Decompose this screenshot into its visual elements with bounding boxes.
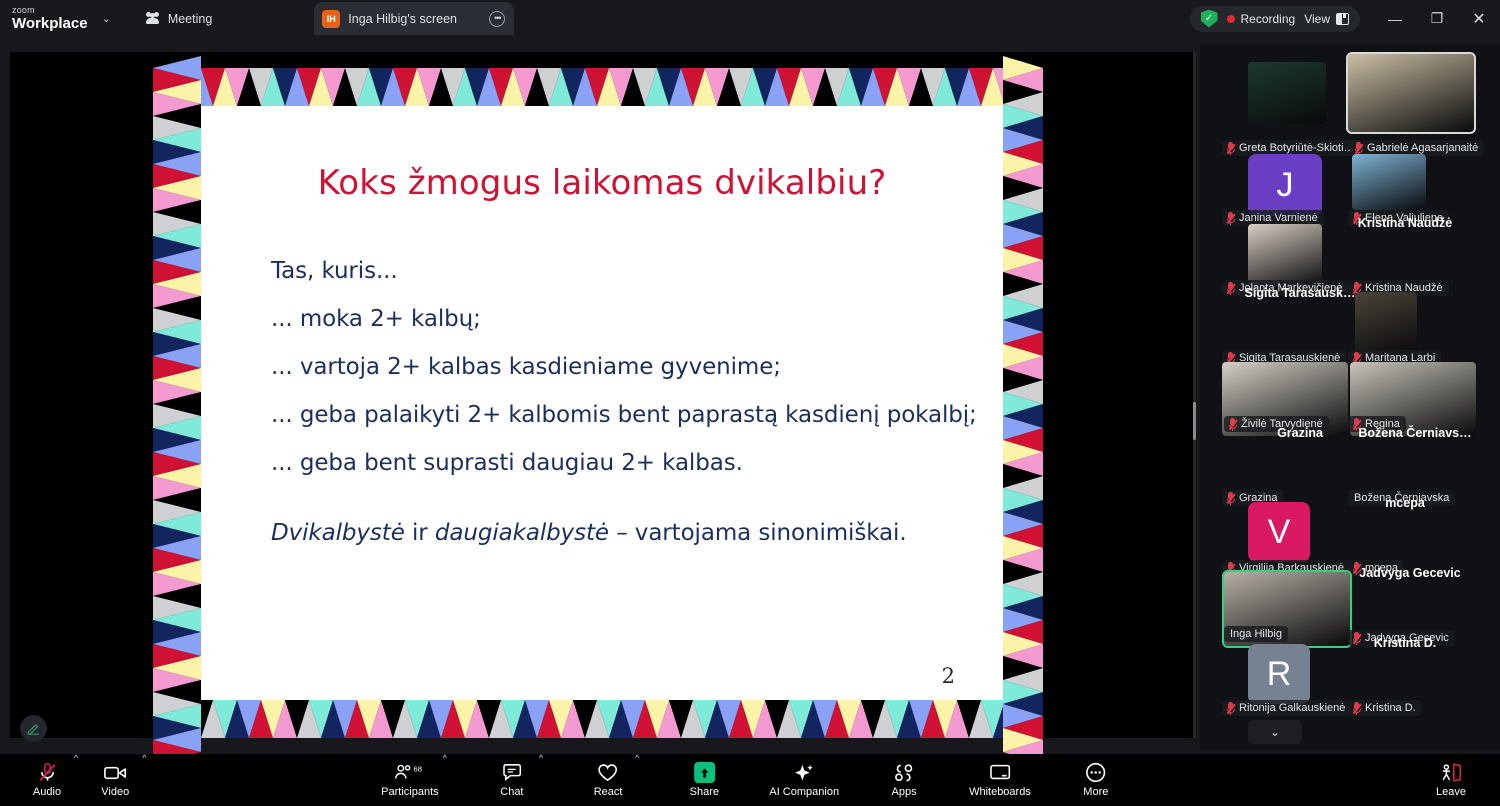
audio-label: Audio (33, 786, 61, 798)
ellipsis-circle-icon (1085, 763, 1106, 783)
participant-tile[interactable]: Kristina D.Kristina D. (1200, 44, 1500, 750)
presentation-slide: Koks žmogus laikomas dvikalbiu? Tas, kur… (153, 68, 1043, 738)
share-screen-icon (694, 763, 715, 783)
leave-button[interactable]: Leave (1428, 763, 1474, 798)
react-label: React (594, 786, 623, 798)
meeting-toolbar: Audio ^ Video ^ (0, 754, 1500, 806)
slide-spacer (271, 498, 963, 520)
chat-control-group: Chat ^ (489, 763, 543, 798)
title-bar: zoom Workplace ⌄ Meeting IH Inga Hilbig'… (0, 0, 1500, 37)
ellipsis-icon[interactable]: ••• (489, 11, 505, 27)
ai-companion-label: AI Companion (769, 786, 839, 798)
slide-line-4: ... geba bent suprasti daugiau 2+ kalbas… (271, 450, 963, 476)
participants-options-chevron-icon[interactable]: ^ (443, 753, 447, 763)
share-button[interactable]: Share (681, 763, 727, 798)
slide-body: Tas, kuris... ... moka 2+ kalbų; ... var… (271, 258, 963, 568)
slide-page-number: 2 (942, 664, 955, 688)
apps-label: Apps (892, 786, 917, 798)
slide-line-0: Tas, kuris... (271, 258, 963, 284)
tab-shared-screen-label: Inga Hilbig's screen (348, 12, 457, 26)
participants-panel[interactable]: ⌄ Greta Botyriūtė-Skioti…Gabrielė Agasar… (1200, 44, 1500, 750)
footnote-text-1: ir (405, 520, 435, 546)
video-label: Video (101, 786, 129, 798)
heart-icon (598, 763, 619, 783)
footnote-term-1: Dvikalbystė (271, 520, 405, 546)
chat-icon (502, 763, 522, 783)
view-label: View (1304, 12, 1330, 26)
whiteboards-button[interactable]: Whiteboards (969, 763, 1031, 798)
slide-footnote: Dvikalbystė ir daugiakalbystė – vartojam… (271, 520, 963, 546)
participants-label: Participants (381, 786, 438, 798)
apps-button[interactable]: Apps (881, 763, 927, 798)
react-options-chevron-icon[interactable]: ^ (635, 753, 639, 763)
microphone-muted-icon (1352, 702, 1361, 715)
window-buttons: — ❐ ✕ (1374, 0, 1500, 37)
participant-name-badge: Kristina D. (1348, 700, 1422, 716)
people-icon (145, 12, 160, 25)
participants-control-group: 68 Participants ^ (381, 763, 447, 798)
participants-button[interactable]: 68 Participants (381, 763, 438, 798)
shield-check-icon[interactable] (1201, 10, 1218, 28)
react-button[interactable]: React (585, 763, 631, 798)
recording-indicator[interactable]: Recording (1227, 12, 1296, 26)
status-pill: Recording View (1190, 6, 1361, 32)
sparkle-icon (793, 763, 815, 783)
video-control-group: Video ^ (92, 763, 146, 798)
recording-label: Recording (1241, 12, 1296, 26)
slide-line-3: ... geba palaikyti 2+ kalbomis bent papr… (271, 402, 963, 428)
participant-display-name: Kristina D. (1330, 636, 1480, 650)
tab-meeting-label: Meeting (168, 12, 212, 26)
recording-dot-icon (1227, 15, 1235, 23)
audio-control-group: Audio ^ (24, 763, 78, 798)
leave-door-icon (1439, 763, 1463, 783)
tab-shared-screen[interactable]: IH Inga Hilbig's screen ••• (314, 2, 514, 35)
participants-icon: 68 (393, 763, 427, 783)
svg-text:68: 68 (413, 765, 422, 774)
chat-button[interactable]: Chat (489, 763, 535, 798)
share-label: Share (690, 786, 719, 798)
annotate-button[interactable] (20, 715, 47, 742)
brand-small-label: zoom (12, 6, 88, 15)
slide-line-2: ... vartoja 2+ kalbas kasdieniame gyveni… (271, 354, 963, 380)
restore-button[interactable]: ❐ (1416, 0, 1458, 37)
brand-main-label: Workplace (12, 16, 88, 31)
layout-icon (1336, 13, 1349, 25)
shared-screen-area[interactable]: Koks žmogus laikomas dvikalbiu? Tas, kur… (10, 52, 1195, 738)
audio-button[interactable]: Audio (24, 763, 70, 798)
ai-companion-button[interactable]: AI Companion (769, 763, 839, 798)
view-button[interactable]: View (1304, 12, 1349, 26)
more-label: More (1083, 786, 1108, 798)
footnote-term-2: daugiakalbystė (435, 520, 609, 546)
panel-resize-handle[interactable] (1193, 52, 1196, 738)
tab-meeting[interactable]: Meeting (133, 4, 224, 34)
slide-line-1: ... moka 2+ kalbų; (271, 306, 963, 332)
camera-icon (104, 763, 127, 783)
apps-icon (894, 763, 915, 783)
audio-options-chevron-icon[interactable]: ^ (74, 753, 78, 763)
avatar: IH (322, 10, 340, 28)
zoom-brand: zoom Workplace (12, 6, 88, 31)
whiteboards-label: Whiteboards (969, 786, 1031, 798)
microphone-muted-icon (37, 763, 58, 783)
slide-title: Koks žmogus laikomas dvikalbiu? (201, 163, 1003, 203)
chat-options-chevron-icon[interactable]: ^ (539, 753, 543, 763)
chevron-down-icon[interactable]: ⌄ (102, 12, 111, 25)
footnote-text-2: – vartojama sinonimiškai. (609, 520, 907, 546)
participant-name-label: Kristina D. (1365, 702, 1416, 714)
pencil-icon (26, 721, 41, 736)
close-button[interactable]: ✕ (1458, 0, 1500, 37)
react-control-group: React ^ (585, 763, 639, 798)
leave-label: Leave (1436, 786, 1466, 798)
slide-content: Koks žmogus laikomas dvikalbiu? Tas, kur… (201, 106, 1003, 700)
minimize-button[interactable]: — (1374, 0, 1416, 37)
chat-label: Chat (500, 786, 523, 798)
more-button[interactable]: More (1073, 763, 1119, 798)
video-options-chevron-icon[interactable]: ^ (142, 753, 146, 763)
window-controls-group: Recording View — ❐ ✕ (1190, 0, 1500, 37)
video-button[interactable]: Video (92, 763, 138, 798)
whiteboard-icon (989, 763, 1011, 783)
